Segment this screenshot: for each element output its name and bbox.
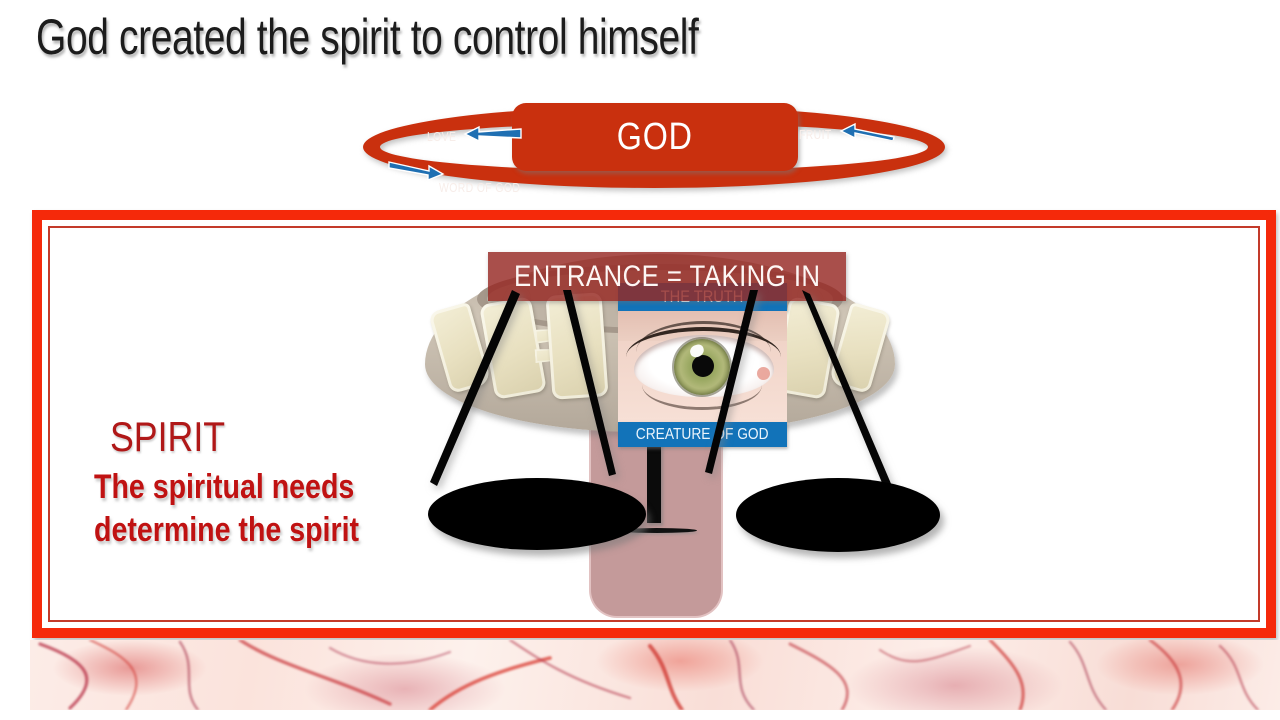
ring-label-word-of-god: WORD OF GOD — [439, 180, 520, 195]
page-title: God created the spirit to control himsel… — [36, 6, 699, 68]
left-arrow-icon — [463, 125, 525, 143]
left-arrow-icon — [839, 122, 897, 140]
ring-label-love: LOVE — [427, 129, 456, 144]
god-box: GOD — [512, 103, 798, 171]
right-arrow-icon — [387, 158, 445, 182]
black-ellipse-right — [736, 478, 940, 552]
spirit-figure-illustration: THE TRUTH CREATURE OF GOD — [50, 228, 1260, 622]
spirit-heading: SPIRIT — [110, 413, 225, 461]
black-ellipse-left — [428, 478, 646, 550]
ray-line — [802, 290, 892, 490]
god-box-label: GOD — [617, 116, 693, 159]
slide-canvas: God created the spirit to control himsel… — [0, 0, 1280, 720]
spirit-panel: THE TRUTH CREATURE OF GOD — [32, 210, 1276, 638]
ring-label-fruit: FRUIT — [799, 127, 832, 142]
ray-line — [563, 290, 616, 476]
tissue-texture-strip — [30, 640, 1280, 710]
spirit-body-text: The spiritual needs determine the spirit — [94, 466, 359, 552]
panel-inner-border: THE TRUTH CREATURE OF GOD — [48, 226, 1260, 622]
god-cycle-diagram: GOD LOVE FRUIT WORD OF GOD — [355, 96, 955, 206]
vessel-lines — [30, 640, 1280, 710]
ray-line — [430, 290, 520, 486]
black-ray-lines — [50, 228, 1260, 622]
ray-line — [705, 290, 758, 474]
